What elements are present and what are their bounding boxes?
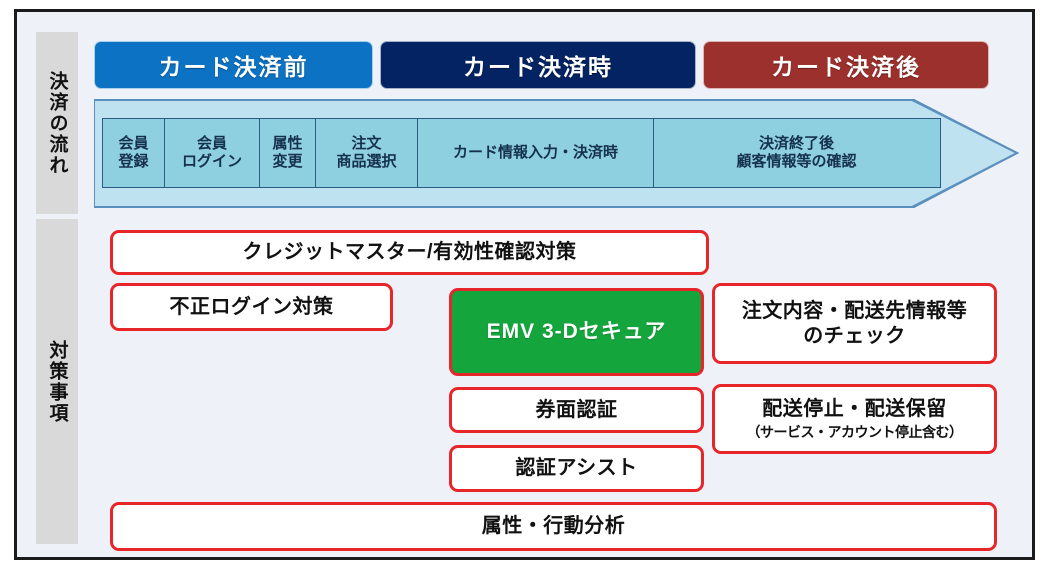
measure-box-behavior-analysis: 属性・行動分析 — [110, 502, 997, 551]
flow-step-member-login: 会員 ログイン — [164, 118, 261, 188]
row-label-payment-flow: 決済の流れ — [36, 32, 78, 214]
payment-flow-band: 会員 登録 会員 ログイン 属性 変更 注文 商品選択 カード情報入力・決済時 … — [94, 99, 1019, 208]
phase-header-before-payment: カード決済前 — [94, 41, 373, 89]
flow-step-post-settlement: 決済終了後 顧客情報等の確認 — [653, 118, 941, 188]
row-label-countermeasures: 対策事項 — [36, 219, 78, 544]
flow-step-order-select: 注文 商品選択 — [315, 118, 419, 188]
phase-header-after-payment: カード決済後 — [703, 41, 989, 89]
measure-box-shipping-hold: 配送停止・配送保留 （サービス・アカウント停止含む） — [712, 384, 997, 454]
measure-box-emv-3ds: EMV 3-Dセキュア — [449, 288, 704, 376]
measure-title: 属性・行動分析 — [482, 514, 626, 539]
measure-box-credit-master: クレジットマスター/有効性確認対策 — [110, 230, 709, 275]
flow-step-card-input: カード情報入力・決済時 — [417, 118, 654, 188]
flow-step-attribute-change: 属性 変更 — [259, 118, 316, 188]
measure-title: 認証アシスト — [515, 456, 637, 481]
flow-step-member-register: 会員 登録 — [102, 118, 165, 188]
diagram-frame: 決済の流れ 対策事項 カード決済前 カード決済時 カード決済後 会員 登録 会員… — [14, 9, 1035, 560]
measure-title: EMV 3-Dセキュア — [487, 319, 667, 345]
measure-box-auth-assist: 認証アシスト — [449, 445, 704, 492]
measure-box-order-check: 注文内容・配送先情報等 のチェック — [712, 283, 997, 364]
measure-box-card-face-auth: 券面認証 — [449, 387, 704, 433]
measure-title: 券面認証 — [536, 398, 618, 423]
measure-title: 配送停止・配送保留 — [762, 397, 947, 422]
measure-title: 注文内容・配送先情報等 のチェック — [742, 299, 968, 349]
measure-title: クレジットマスター/有効性確認対策 — [242, 240, 576, 265]
measure-title: 不正ログイン対策 — [170, 295, 334, 320]
phase-header-during-payment: カード決済時 — [380, 41, 696, 89]
measure-box-bad-login: 不正ログイン対策 — [110, 283, 393, 331]
measure-subtitle: （サービス・アカウント停止含む） — [747, 423, 963, 441]
flow-step-list: 会員 登録 会員 ログイン 属性 変更 注文 商品選択 カード情報入力・決済時 … — [102, 118, 941, 188]
